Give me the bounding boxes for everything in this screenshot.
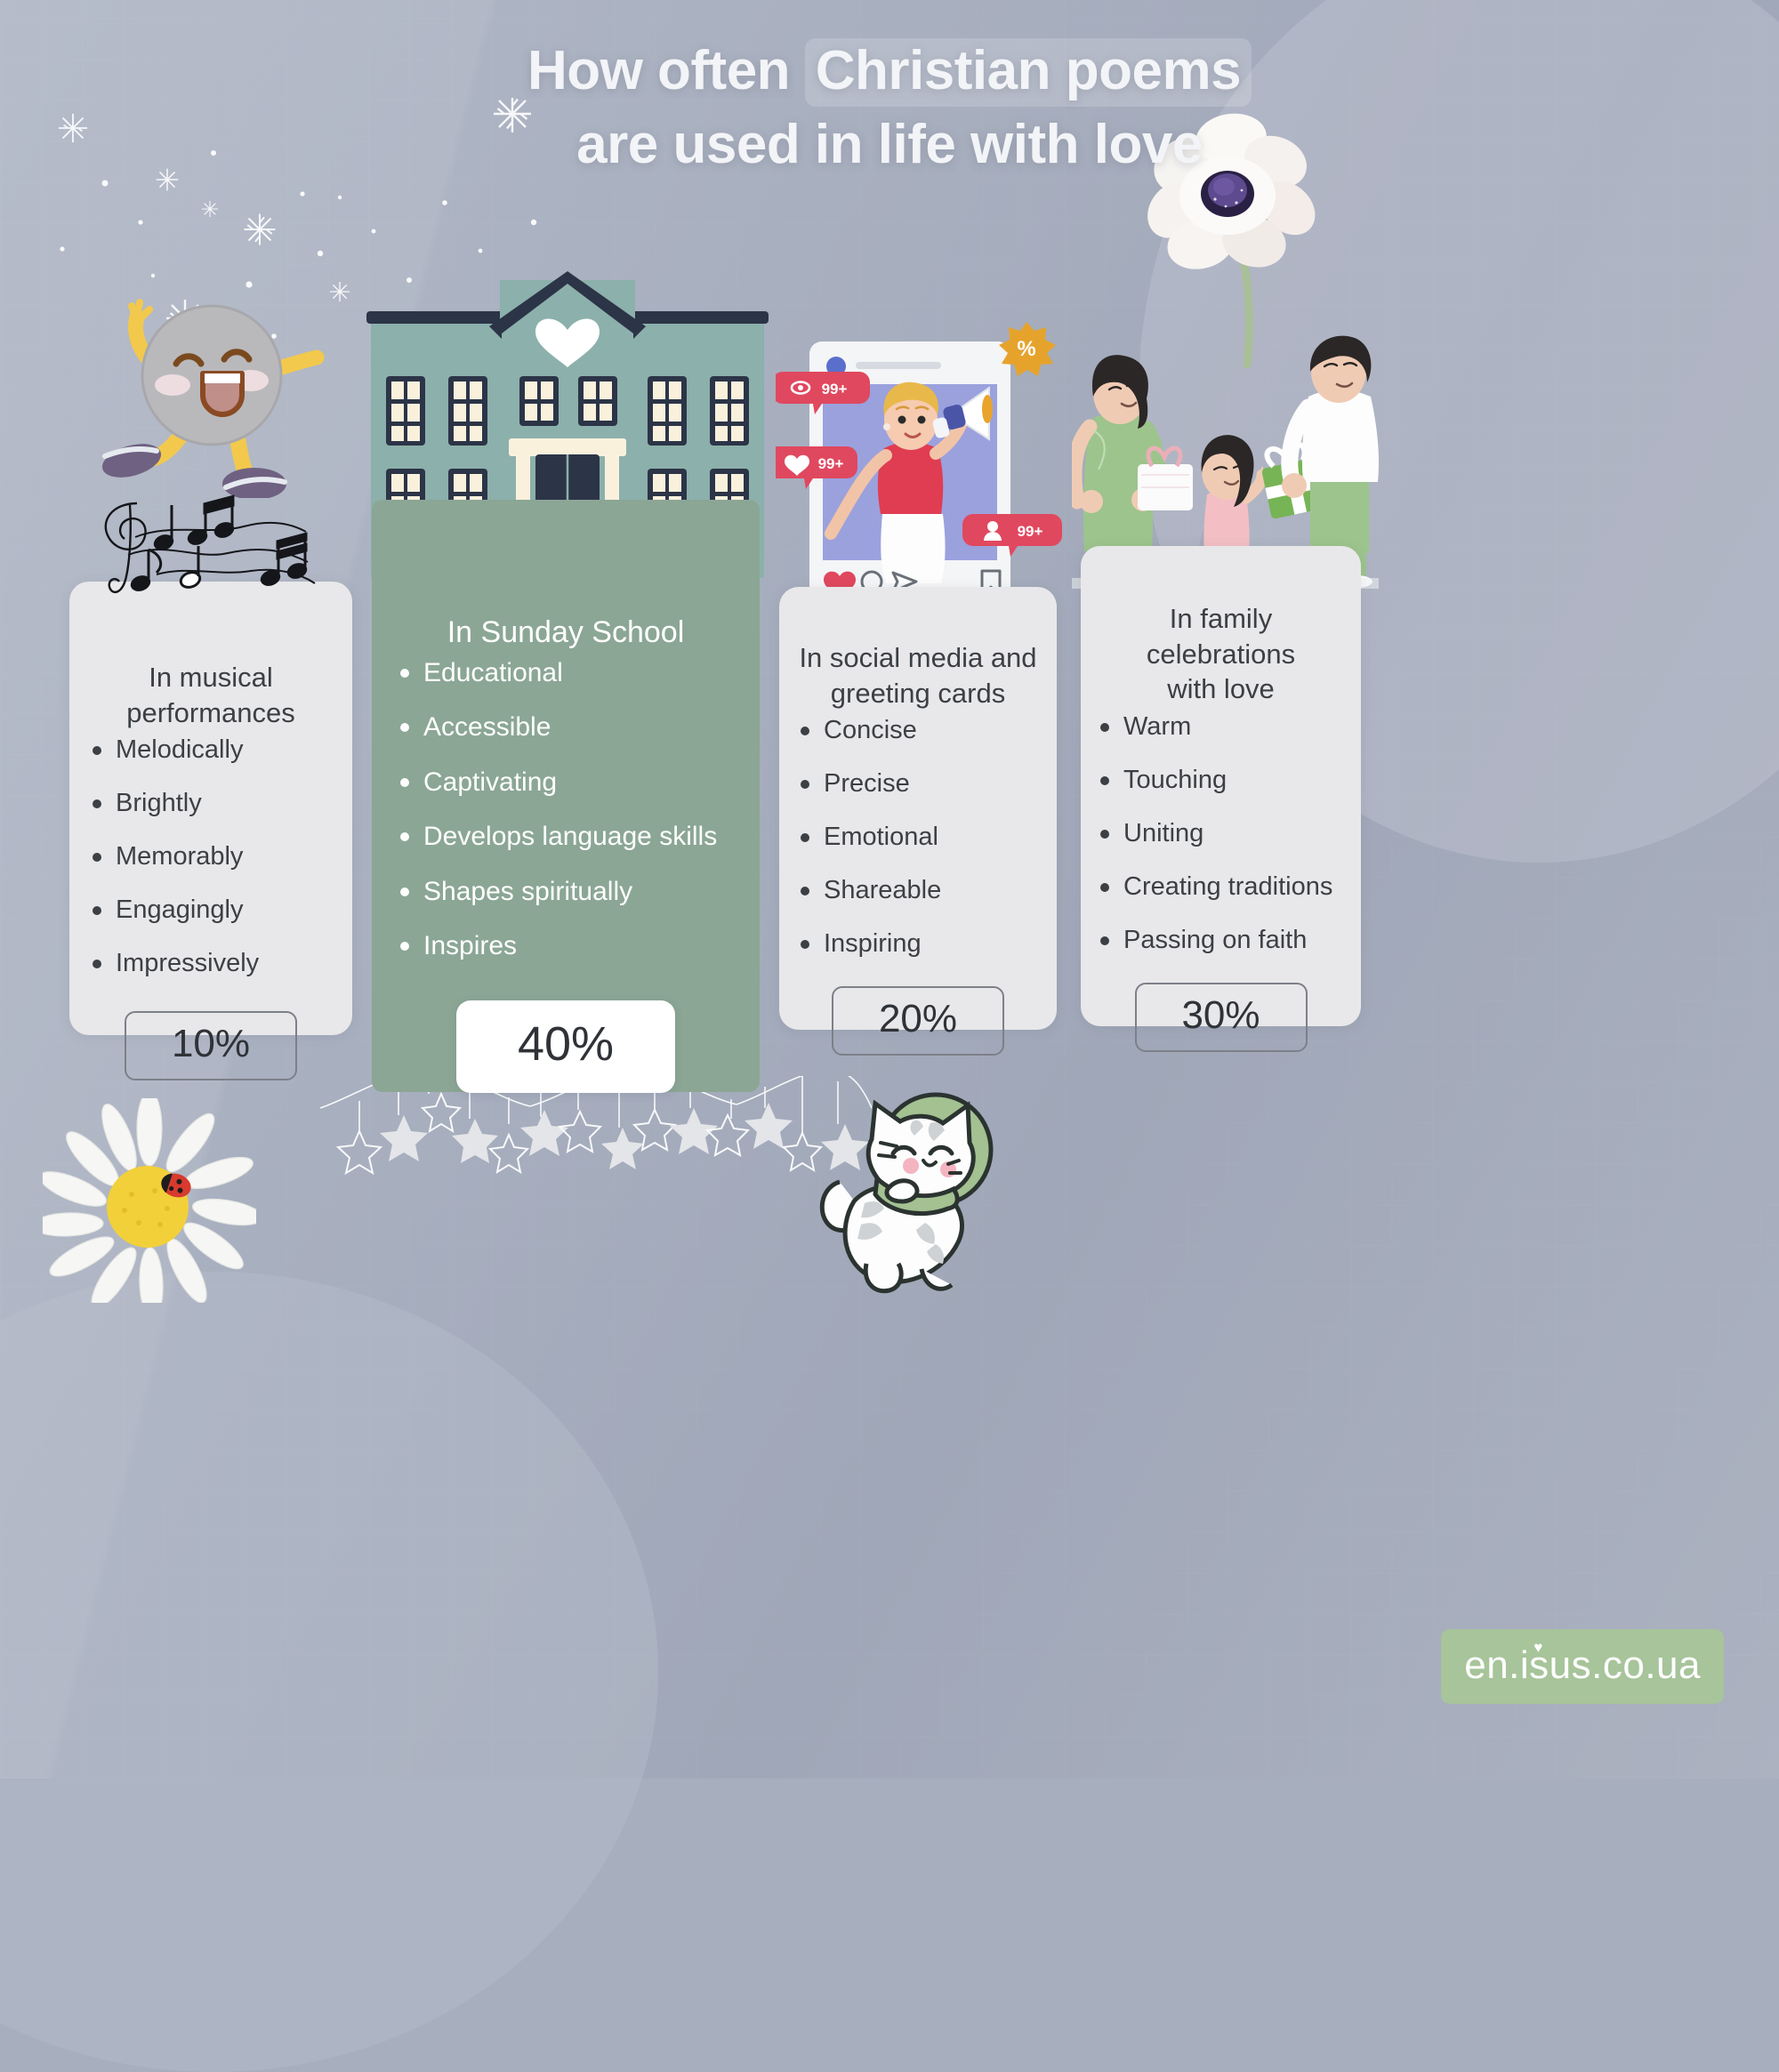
card-list-musical-performances: Melodically Brightly Memorably Engagingl… — [85, 730, 336, 997]
percentage-badge-social-media: 20% — [832, 986, 1004, 1056]
svg-text:99+: 99+ — [822, 381, 848, 398]
list-item: Passing on faith — [1093, 920, 1348, 960]
smiling-ball-character-illustration — [78, 293, 345, 498]
list-item: Memorably — [85, 837, 336, 877]
list-item: Precise — [793, 764, 1042, 804]
star-garland-illustration — [320, 1076, 872, 1192]
list-item: Inspires — [393, 926, 738, 968]
list-item: Educational — [393, 653, 738, 695]
list-item: Brightly — [85, 783, 336, 823]
site-logo-badge[interactable]: en.isus.co.ua ♥ — [1441, 1629, 1724, 1704]
social-media-post-illustration: % 99+ 99+ 99+ — [776, 320, 1069, 627]
card-social-media[interactable]: In social media and greeting cards Conci… — [779, 587, 1057, 1030]
card-list-family-celebrations: Warm Touching Uniting Creating tradition… — [1093, 707, 1348, 974]
list-item: Uniting — [1093, 814, 1348, 854]
list-item: Develops language skills — [393, 816, 738, 858]
card-title-family-celebrations: In family celebrations with love — [1093, 601, 1348, 707]
svg-text:99+: 99+ — [1018, 523, 1043, 540]
page-title: How often Christian poems are used in li… — [0, 34, 1779, 181]
list-item: Impressively — [85, 944, 336, 984]
list-item: Concise — [793, 711, 1042, 751]
list-item: Accessible — [393, 707, 738, 749]
card-title-social-media: In social media and greeting cards — [793, 640, 1042, 711]
list-item: Inspiring — [793, 924, 1042, 964]
card-title-sunday-school: In Sunday School — [393, 614, 738, 653]
cat-with-hood-illustration — [818, 1089, 1014, 1307]
card-list-sunday-school: Educational Accessible Captivating Devel… — [393, 653, 738, 981]
list-item: Shareable — [793, 871, 1042, 911]
list-item: Melodically — [85, 730, 336, 770]
musical-notes-illustration — [85, 491, 326, 633]
percentage-badge-musical-performances: 10% — [125, 1011, 297, 1080]
percentage-badge-family-celebrations: 30% — [1135, 983, 1308, 1052]
logo-url-text: en.isus.co.ua — [1464, 1643, 1701, 1687]
card-sunday-school[interactable]: In Sunday School Educational Accessible … — [372, 500, 760, 1092]
daisy-flower-illustration — [43, 1098, 256, 1303]
list-item: Captivating — [393, 762, 738, 804]
heart-icon: ♥ — [1533, 1640, 1543, 1655]
card-musical-performances[interactable]: In musical performances Melodically Brig… — [69, 582, 352, 1035]
title-text-before: How often — [527, 40, 805, 101]
title-highlight: Christian poems — [805, 38, 1252, 107]
card-family-celebrations[interactable]: In family celebrations with love Warm To… — [1081, 546, 1361, 1026]
list-item: Shapes spiritually — [393, 871, 738, 913]
title-line-1: How often Christian poems — [0, 34, 1779, 108]
list-item: Emotional — [793, 817, 1042, 857]
list-item: Warm — [1093, 707, 1348, 747]
percentage-badge-sunday-school: 40% — [456, 1000, 675, 1093]
percent-badge-label: % — [1017, 337, 1035, 361]
svg-text:99+: 99+ — [818, 455, 844, 472]
title-line-2: are used in life with love — [0, 108, 1779, 181]
list-item: Creating traditions — [1093, 867, 1348, 907]
list-item: Engagingly — [85, 890, 336, 930]
list-item: Touching — [1093, 760, 1348, 800]
card-title-musical-performances: In musical performances — [85, 660, 336, 730]
card-list-social-media: Concise Precise Emotional Shareable Insp… — [793, 711, 1042, 977]
site-logo-text: en.isus.co.ua ♥ — [1464, 1643, 1701, 1688]
